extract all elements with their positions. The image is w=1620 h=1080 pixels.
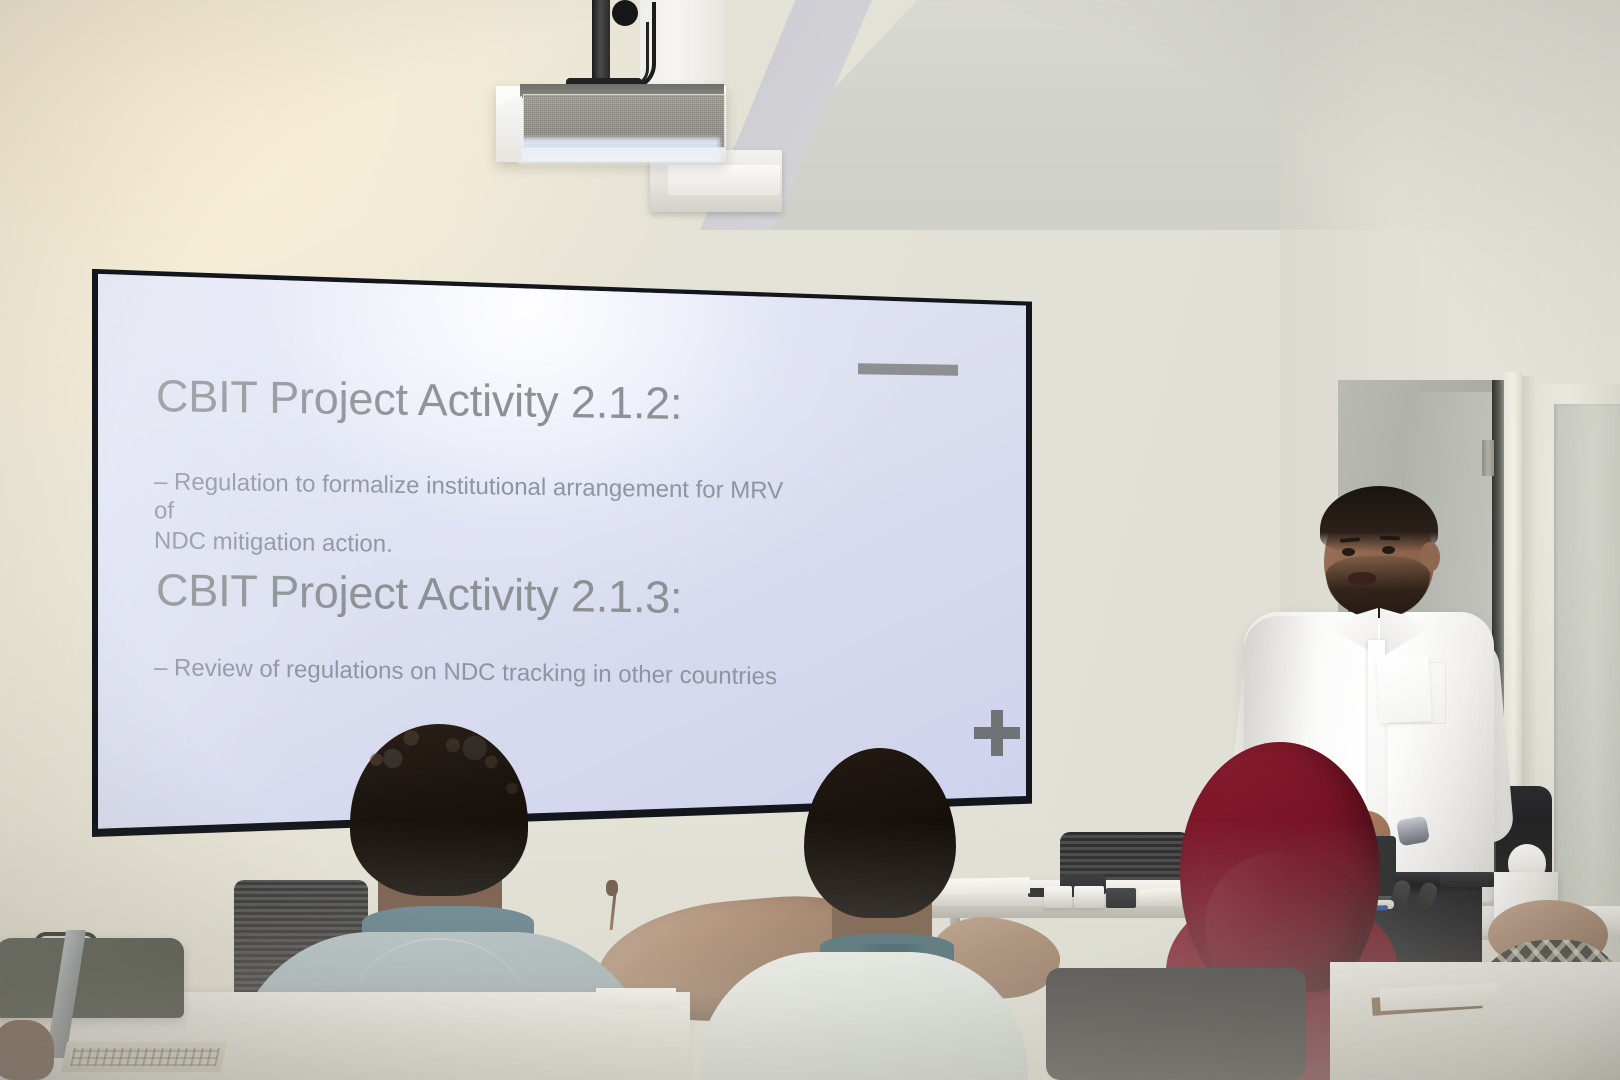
presenter-paper xyxy=(1376,655,1431,724)
slide-title-1: CBIT Project Activity 2.1.2: xyxy=(156,370,682,430)
projector-lens-glow xyxy=(520,138,720,164)
classroom-presentation-photo: CBIT Project Activity 2.1.2: – Regulatio… xyxy=(0,0,1620,1080)
slide-bullet-1: – Regulation to formalize institutional … xyxy=(154,467,794,564)
slide-accent-bar-icon xyxy=(858,363,958,376)
door-hinge-icon xyxy=(1482,440,1494,476)
presenter-beard xyxy=(1326,556,1430,618)
presenter-eye-right xyxy=(1382,546,1395,554)
presenter-eye-left xyxy=(1342,548,1355,556)
slide-bullet-2: – Review of regulations on NDC tracking … xyxy=(154,653,814,692)
slide-title-2: CBIT Project Activity 2.1.3: xyxy=(156,564,682,624)
projector-cable-plug xyxy=(612,0,638,26)
presenter-mouth xyxy=(1348,572,1376,585)
presenter-hair xyxy=(1320,486,1438,552)
projector-ceiling-plate-lower xyxy=(668,165,780,195)
lower-wall-shading xyxy=(0,820,1620,1080)
projector-side-panel xyxy=(496,96,522,164)
projector-mount-pole xyxy=(592,0,610,86)
